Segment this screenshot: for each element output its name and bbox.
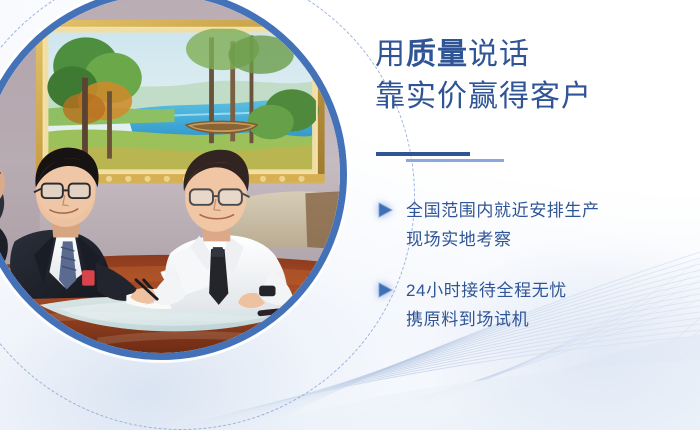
feature-line-2: 现场实地考察 xyxy=(406,225,700,254)
feature-text: 全国范围内就近安排生产 现场实地考察 xyxy=(406,196,700,254)
page-title: 用质量说话 靠实价赢得客户 xyxy=(375,34,695,118)
photo-illustration xyxy=(0,0,340,353)
business-meeting-signing-photo xyxy=(0,0,340,353)
triangle-right-icon xyxy=(376,281,394,299)
banner-root: 用质量说话 靠实价赢得客户 全国范围内就近安排生产 现场实地考察 xyxy=(0,0,700,430)
feature-line-1: 24小时接待全程无忧 xyxy=(406,276,700,305)
headline-line-2: 靠实价赢得客户 xyxy=(375,76,695,118)
headline-suffix: 说话 xyxy=(468,38,530,71)
feature-text: 24小时接待全程无忧 携原料到场试机 xyxy=(406,276,700,334)
title-divider xyxy=(376,152,526,164)
divider-bar-dark xyxy=(376,152,470,156)
business-meeting-photo-frame xyxy=(0,0,347,360)
feature-line-1: 全国范围内就近安排生产 xyxy=(406,196,700,225)
headline-line-1: 用质量说话 xyxy=(375,34,695,76)
feature-list: 全国范围内就近安排生产 现场实地考察 24小时接待全程无忧 携原料到场试机 xyxy=(374,196,700,356)
divider-bar-light xyxy=(406,159,504,162)
headline-prefix: 用 xyxy=(375,38,406,71)
list-item: 24小时接待全程无忧 携原料到场试机 xyxy=(374,276,700,334)
feature-line-2: 携原料到场试机 xyxy=(406,305,700,334)
triangle-right-icon xyxy=(376,201,394,219)
headline-emphasis: 质量 xyxy=(406,38,468,71)
list-item: 全国范围内就近安排生产 现场实地考察 xyxy=(374,196,700,254)
content-column: 用质量说话 靠实价赢得客户 全国范围内就近安排生产 现场实地考察 xyxy=(374,0,700,430)
